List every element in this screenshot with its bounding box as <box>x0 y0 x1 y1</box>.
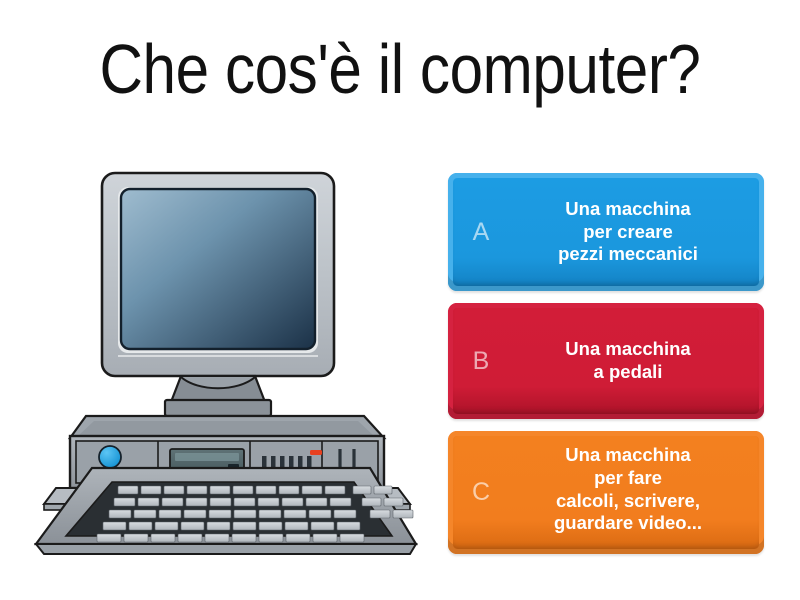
answer-letter-c: C <box>453 480 509 505</box>
answer-option-c[interactable]: C Una macchina per fare calcoli, scriver… <box>448 431 764 554</box>
desktop-computer-illustration <box>18 160 430 560</box>
monitor-stand <box>165 376 271 416</box>
answer-text-b: Una macchina a pedali <box>509 338 759 383</box>
status-led <box>310 450 322 455</box>
answer-option-a[interactable]: A Una macchina per creare pezzi meccanic… <box>448 173 764 291</box>
answer-text-c: Una macchina per fare calcoli, scrivere,… <box>509 444 759 534</box>
answer-text-a: Una macchina per creare pezzi meccanici <box>509 198 759 266</box>
keyboard <box>36 468 416 554</box>
page-title: Che cos'è il computer? <box>56 34 744 104</box>
answer-option-b[interactable]: B Una macchina a pedali <box>448 303 764 419</box>
power-button <box>99 446 121 468</box>
answer-letter-a: A <box>453 220 509 245</box>
answer-letter-b: B <box>453 349 509 374</box>
monitor-screen <box>121 189 315 349</box>
answer-options-list: A Una macchina per creare pezzi meccanic… <box>448 173 764 566</box>
crt-monitor <box>102 173 334 376</box>
